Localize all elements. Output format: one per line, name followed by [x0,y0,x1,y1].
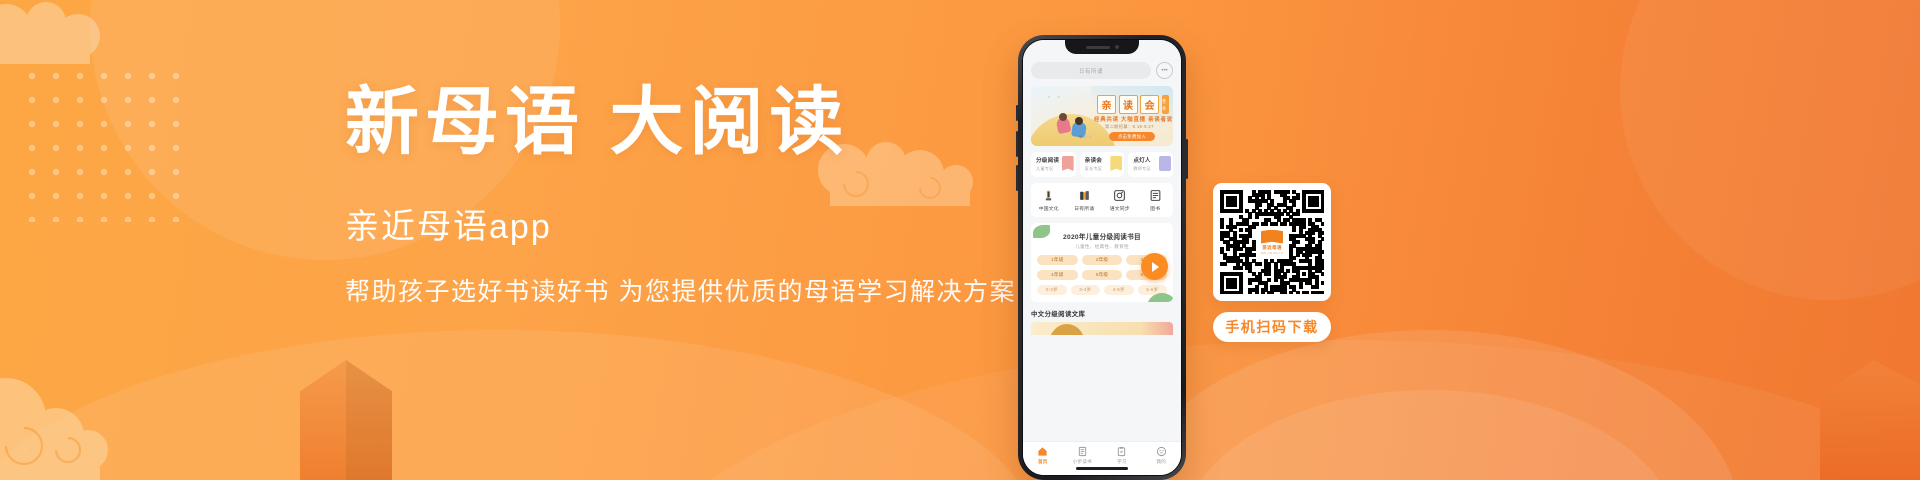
age-row: 0-3岁 3-4岁 4-5岁 5-6岁 [1037,285,1167,295]
copy-block: 新母语 大阅读 亲近母语app 帮助孩子选好书读好书 为您提供优质的母语学习解决… [345,86,1045,309]
promo-child-pink-head [1059,113,1067,121]
quick-link-label: 日有所诵 [1074,205,1094,212]
books-icon [1149,189,1162,202]
tab-label: 我的 [1156,459,1166,465]
open-book-icon [1261,230,1283,244]
quick-link-label: 语文同步 [1110,205,1130,212]
phone-mute-switch [1016,105,1018,121]
qr-center-logo: 亲近母语 QIN JIN MU YU [1257,227,1287,257]
tab-study[interactable]: 学习 [1102,446,1142,465]
qr-code: 亲近母语 QIN JIN MU YU [1220,190,1324,294]
qr-logo-pinyin: QIN JIN MU YU [1261,252,1283,255]
read-icon [1077,446,1088,457]
phone-volume-down [1016,165,1018,191]
library-section-title: 中文分级阅读文库 [1031,309,1173,318]
auspicious-cloud-icon [0,350,170,480]
quick-link-row: 中国文化 日有所诵 [1031,183,1173,217]
decorative-cube-left [300,360,392,480]
page-title: 新母语 大阅读 [345,86,1045,161]
age-pill[interactable]: 3-4岁 [1071,285,1101,295]
search-input[interactable]: 日有所诵 [1031,62,1151,79]
person-blob-icon [1159,156,1171,171]
promo-season-flag: 第二季 [1162,95,1169,114]
tab-read[interactable]: 小步读书 [1063,446,1103,465]
bird-icon: ⌃ ⌃ [1047,96,1063,102]
tab-label: 首页 [1038,459,1048,465]
tab-label: 小步读书 [1073,459,1092,465]
quick-link[interactable]: 中国文化 [1031,189,1067,212]
tab-label: 学习 [1117,459,1127,465]
grade-pill[interactable]: 5年级 [1082,270,1123,280]
quick-link-label: 中国文化 [1039,205,1059,212]
auspicious-cloud-icon [0,0,120,80]
grade-pill[interactable]: 2年级 [1082,255,1123,265]
carousel-dots[interactable] [1079,135,1092,138]
app-home-screen: 日有所诵 ••• ⌃ ⌃ 亲 读 会 第二季 [1023,40,1181,475]
search-row: 日有所诵 ••• [1031,62,1173,79]
promo-title-char: 亲 [1097,95,1116,114]
grade-pill[interactable]: 1年级 [1037,255,1078,265]
quick-link[interactable]: 日有所诵 [1067,189,1103,212]
phone-power-button [1186,139,1188,179]
decorative-dot-grid [18,62,183,222]
promo-title: 亲 读 会 第二季 [1097,95,1169,114]
book-stack-icon [1078,189,1091,202]
book-card-subtitle: 儿童性、经典性、教育性 [1037,244,1167,250]
promo-banner: 新母语 大阅读 亲近母语app 帮助孩子选好书读好书 为您提供优质的母语学习解决… [0,0,1920,480]
grade-pill[interactable]: 4年级 [1037,270,1078,280]
entry-card[interactable]: 亲读会 家长专区 [1080,152,1125,177]
tagline: 帮助孩子选好书读好书 为您提供优质的母语学习解决方案 [345,276,1045,309]
front-camera [1115,45,1119,49]
decorative-circle-right [1620,0,1920,300]
study-icon [1116,446,1127,457]
phone-screen: 日有所诵 ••• ⌃ ⌃ 亲 读 会 第二季 [1022,39,1182,476]
sync-icon [1113,189,1126,202]
quick-link[interactable]: 语文同步 [1102,189,1138,212]
home-icon [1037,446,1048,457]
decorative-hill-near [0,330,1040,480]
age-pill[interactable]: 0-3岁 [1037,285,1067,295]
phone-notch [1065,40,1139,54]
promo-child-blue-head [1075,117,1083,125]
promo-subtitle: 经典共读 大咖直播 亲读者说 [1094,115,1173,123]
library-banner[interactable] [1031,322,1173,335]
tab-home[interactable]: 首页 [1023,446,1063,465]
promo-join-button[interactable]: 点击免费加入 [1109,132,1155,141]
decorative-ripple-outer [1120,330,1740,480]
quick-link[interactable]: 图书 [1138,189,1174,212]
entry-card[interactable]: 分级阅读 儿童专区 [1031,152,1076,177]
quick-link-label: 图书 [1150,205,1160,212]
culture-icon [1042,189,1055,202]
home-indicator [1076,467,1128,470]
promo-card[interactable]: ⌃ ⌃ 亲 读 会 第二季 经典共读 大咖直播 亲读者说 第二期招募：9.16-… [1031,86,1173,146]
more-icon[interactable]: ••• [1156,62,1173,79]
decorative-cube-right [1820,360,1920,480]
promo-title-char: 会 [1140,95,1159,114]
decorative-cube-left-shade [300,360,392,480]
qr-logo-title: 亲近母语 [1262,245,1282,251]
entry-card[interactable]: 点灯人 教师专区 [1128,152,1173,177]
promo-title-char: 读 [1119,95,1138,114]
promo-date: 第二期招募：9.16-9.27 [1105,124,1154,130]
qr-card: 亲近母语 QIN JIN MU YU [1213,183,1331,301]
age-pill[interactable]: 4-5岁 [1104,285,1134,295]
decorative-hill-far [640,340,1920,480]
app-name-subtitle: 亲近母语app [345,207,1045,248]
earpiece-speaker [1086,46,1110,49]
play-icon[interactable] [1141,253,1168,280]
decorative-ripple-inner [1180,390,1680,480]
book-list-card: 2020年儿童分级阅读书目 儿童性、经典性、教育性 1年级 2年级 3年级 4年… [1031,223,1173,302]
book-card-title: 2020年儿童分级阅读书目 [1037,231,1167,241]
phone-volume-up [1016,131,1018,157]
phone-mockup: 日有所诵 ••• ⌃ ⌃ 亲 读 会 第二季 [1018,35,1186,480]
download-button[interactable]: 手机扫码下载 [1213,312,1331,342]
tab-profile[interactable]: 我的 [1142,446,1182,465]
profile-icon [1156,446,1167,457]
qr-block: 亲近母语 QIN JIN MU YU 手机扫码下载 [1213,183,1331,342]
entry-card-row: 分级阅读 儿童专区 亲读会 家长专区 点灯人 教师专区 [1031,152,1173,177]
